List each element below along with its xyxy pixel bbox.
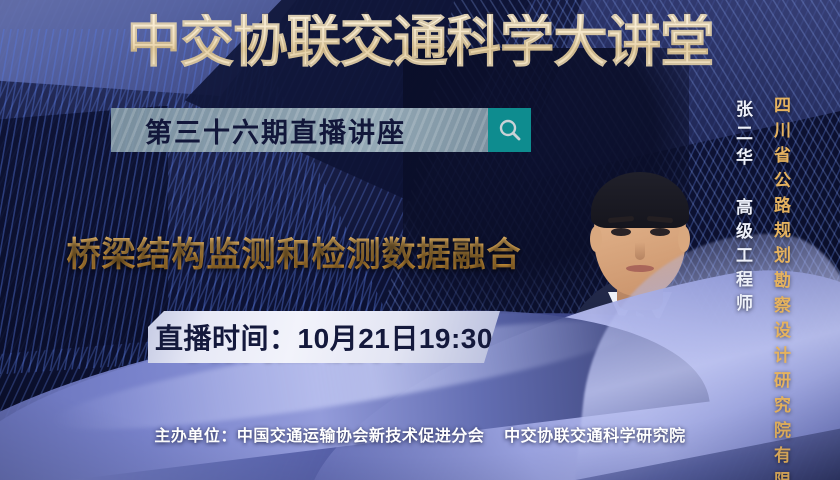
broadcast-time-badge: 直播时间：10月21日19:30 [148,311,500,363]
poster-main-title: 中交协联交通科学大讲堂 [13,14,828,70]
search-icon [497,117,523,143]
live-lecture-poster: 中交协联交通科学大讲堂 第三十六期直播讲座 桥梁结构监测和检测数据融合 与协同应… [0,0,840,480]
lecture-topic-line-1: 桥梁结构监测和检测数据融合 [67,233,522,278]
search-button[interactable] [488,108,531,152]
episode-banner: 第三十六期直播讲座 [111,108,531,152]
episode-label: 第三十六期直播讲座 [145,111,454,150]
speaker-name-vertical: 张二华 高级工程师 [730,100,755,318]
poster-main-title-text: 中交协联交通科学大讲堂 [127,14,714,70]
episode-banner-plate: 第三十六期直播讲座 [111,108,488,152]
organizer-footer: 主办单位：中国交通运输协会新技术促进分会 中交协联交通科学研究院 [0,422,840,446]
broadcast-time-text: 直播时间：10月21日19:30 [155,317,493,357]
